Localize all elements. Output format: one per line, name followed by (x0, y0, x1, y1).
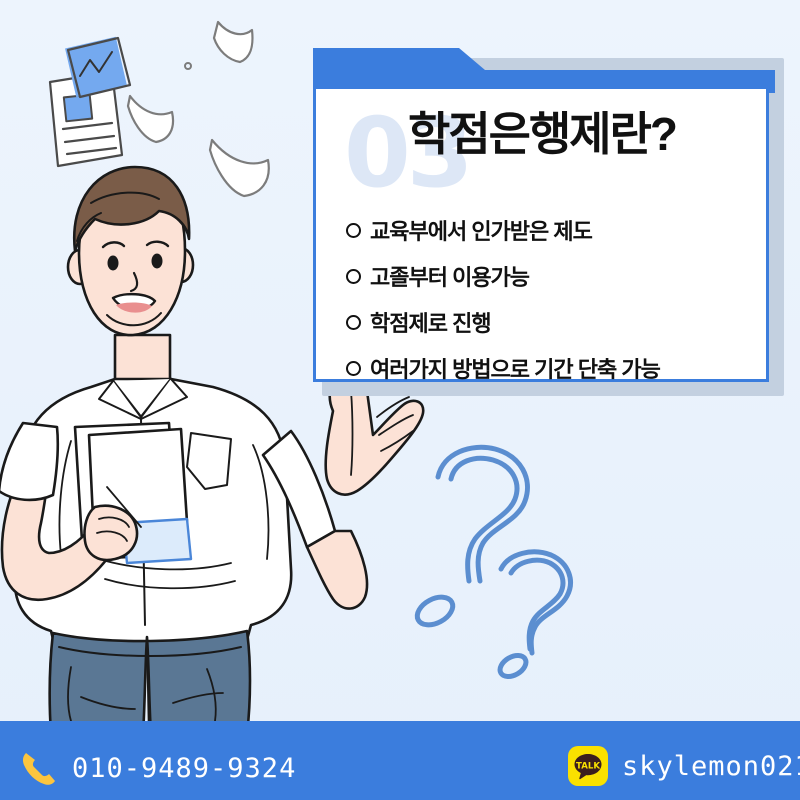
circle-bullet-icon (346, 269, 361, 284)
circle-bullet-icon (346, 361, 361, 376)
paper-chart-icon (65, 37, 130, 97)
list-item-label: 교육부에서 인가받은 제도 (370, 214, 592, 246)
card-folder-tab (313, 48, 775, 93)
phone-icon (18, 748, 58, 788)
question-mark-decoration (405, 435, 605, 680)
list-item: 교육부에서 인가받은 제도 (346, 214, 766, 246)
kakao-contact[interactable]: TALK skylemon0213 (568, 746, 800, 786)
list-item: 학점제로 진행 (346, 306, 766, 338)
info-card: 03 학점은행제란? 교육부에서 인가받은 제도 고졸부터 이용가능 학점제로 … (313, 48, 775, 386)
card-title: 학점은행제란? (408, 111, 676, 157)
poster-canvas: 03 학점은행제란? 교육부에서 인가받은 제도 고졸부터 이용가능 학점제로 … (0, 0, 800, 800)
list-item-label: 학점제로 진행 (370, 306, 491, 338)
kakao-id: skylemon0213 (622, 751, 800, 782)
svg-text:TALK: TALK (576, 761, 600, 771)
phone-number: 010-9489-9324 (72, 753, 296, 784)
list-item-label: 고졸부터 이용가능 (370, 260, 529, 292)
list-item: 여러가지 방법으로 기간 단축 가능 (346, 352, 766, 384)
list-item: 고졸부터 이용가능 (346, 260, 766, 292)
kakaotalk-icon: TALK (568, 746, 608, 786)
circle-bullet-icon (346, 223, 361, 238)
card-body: 03 학점은행제란? 교육부에서 인가받은 제도 고졸부터 이용가능 학점제로 … (313, 89, 769, 382)
list-item-label: 여러가지 방법으로 기간 단축 가능 (370, 352, 660, 384)
phone-contact[interactable]: 010-9489-9324 (18, 748, 296, 788)
bullet-list: 교육부에서 인가받은 제도 고졸부터 이용가능 학점제로 진행 여러가지 방법으… (346, 214, 766, 398)
circle-bullet-icon (346, 315, 361, 330)
